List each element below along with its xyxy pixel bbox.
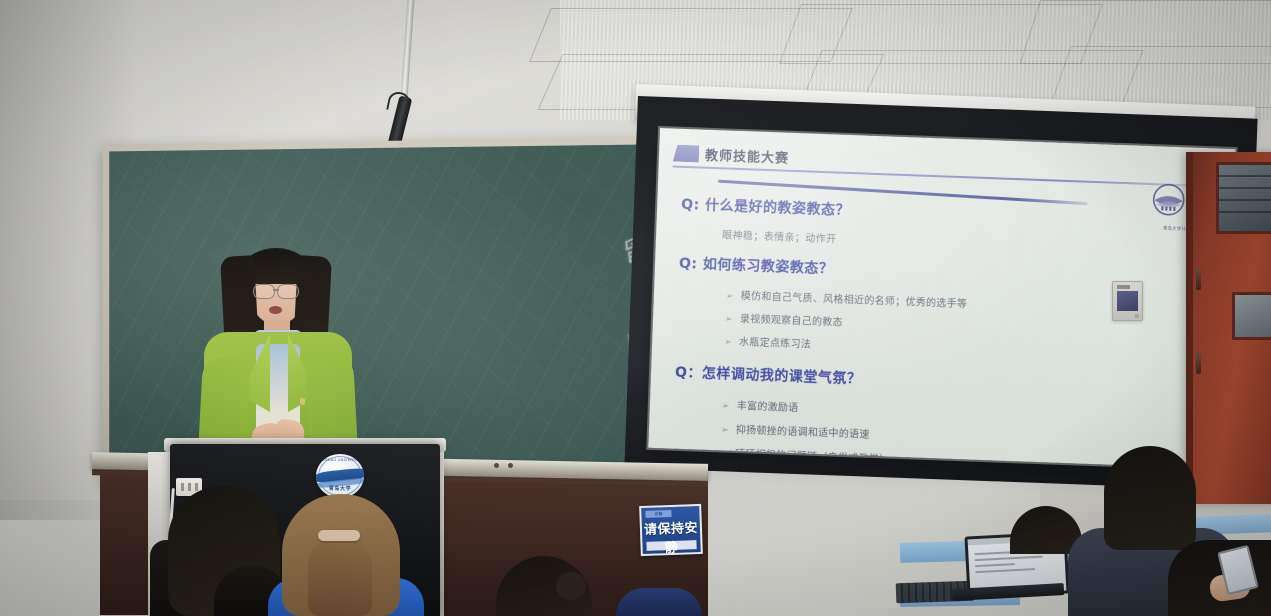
door-window-lower	[1232, 292, 1271, 340]
panel-slot	[1117, 285, 1130, 289]
ledge-bolt	[494, 463, 499, 468]
badge-top-text: QINGDAO UNIVERSITY	[316, 458, 364, 462]
classroom-photo: 留 恍 眩 教师技能大赛	[0, 0, 1271, 616]
list-item-label: 模仿和自己气质、风格相近的名师；优秀的选手等	[741, 287, 968, 310]
list-item-label: 抑扬顿挫的语调和适中的语速	[736, 421, 870, 441]
wall-control-panel[interactable]	[1112, 281, 1143, 321]
bullet-arrow-icon: ➢	[724, 337, 732, 347]
slide-block: Q: 什么是好的教姿教态？ 眼神稳；表情亲；动作开	[680, 194, 1219, 260]
quiet-notice-sign: 安静 请保持安静	[639, 504, 703, 556]
projector-screen: 教师技能大赛	[648, 128, 1235, 469]
ledge-bolt	[508, 463, 513, 468]
audience-hair-bun	[556, 572, 586, 600]
quiet-sign-top-label: 安静	[645, 510, 671, 518]
door-handle-icon[interactable]	[1196, 268, 1201, 290]
panel-screen	[1117, 291, 1138, 311]
podium-university-badge: QINGDAO UNIVERSITY 青岛大学	[316, 454, 364, 498]
glasses-bridge	[273, 289, 279, 291]
bullet-arrow-icon: ➢	[721, 425, 729, 435]
audience-ponytail	[308, 536, 372, 616]
door-window-upper	[1216, 162, 1271, 234]
door-hinge-icon	[1196, 352, 1201, 374]
list-item-label: 丰富的激励语	[736, 397, 798, 414]
slide-note: 眼神稳；表情亲；动作开	[722, 226, 1218, 259]
audience-member	[1104, 446, 1196, 550]
bullet-arrow-icon: ➢	[722, 401, 730, 411]
header-accent-tab	[673, 145, 700, 163]
presentation-slide: 教师技能大赛	[648, 128, 1235, 469]
list-item-label: 录视频观察自己的教态	[740, 310, 843, 329]
slide-header-title: 教师技能大赛	[705, 145, 790, 167]
panel-led-icon	[1135, 314, 1139, 318]
presenter-mouth	[269, 306, 282, 314]
blackboard-surface: 留 恍 眩	[109, 144, 650, 483]
jacket-button	[300, 398, 305, 405]
bullet-arrow-icon: ➢	[725, 315, 733, 325]
hair-tie-icon	[318, 530, 360, 541]
list-item-label: 水瓶定点练习法	[739, 333, 812, 351]
slide-question: Q：怎样调动我的课堂气氛？	[675, 362, 1213, 402]
glasses-icon	[253, 284, 275, 299]
quiet-sign-footer	[646, 540, 696, 551]
badge-bottom-text: 青岛大学	[316, 485, 364, 492]
audience-member	[616, 588, 702, 616]
bullet-arrow-icon: ➢	[726, 292, 734, 302]
glasses-icon	[277, 284, 299, 299]
